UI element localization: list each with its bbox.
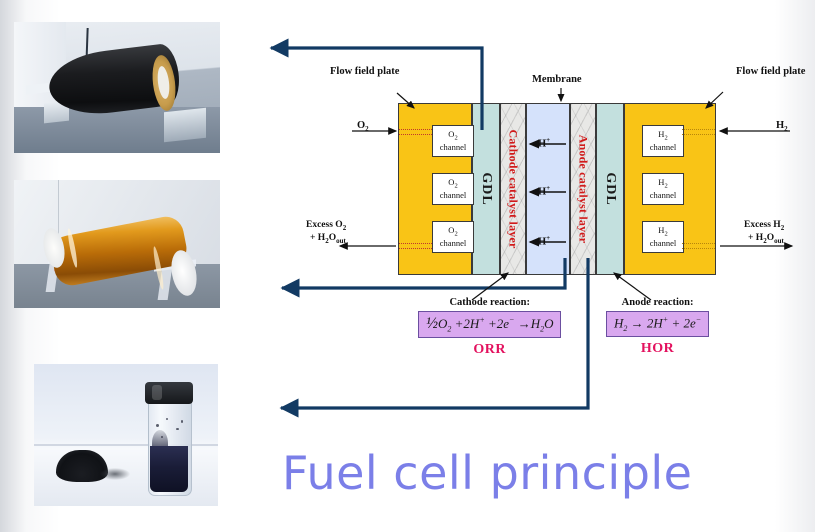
leader-anode-catalyst [614,273,651,300]
hydrogen-channel-2-text: channel [650,191,676,200]
photo-gas-diffusion-layer-roll [14,22,220,153]
cathode-catalyst-layer-label: Cathode catalyst layer [506,129,521,248]
slide-canvas: GDL Cathode catalyst layer Anode catalys… [0,0,815,532]
flow-field-plate-left-label: Flow field plate [330,66,399,77]
oxygen-outlet-dashes [399,243,432,244]
hydrogen-channel-1-text: channel [650,143,676,152]
gdl-right: GDL [596,103,624,275]
page-title: Fuel cell principle [282,446,692,500]
cathode-catalyst-layer: Cathode catalyst layer [500,103,526,275]
oxygen-inlet-dashes [399,129,432,130]
hydrogen-channel-2: H2 channel [642,173,684,205]
oxygen-channel-3-text: channel [440,239,466,248]
oxygen-channel-1-gas: O2 [448,130,457,143]
hydrogen-channel-3-text: channel [650,239,676,248]
gdl-right-label: GDL [602,172,618,205]
anode-reaction-block: Anode reaction: H2 → 2H+ + 2e− HOR [606,297,709,357]
excess-hydrogen-label-line1: Excess H2 [744,220,784,232]
hydrogen-channel-2-gas: H2 [658,178,667,191]
oxygen-channel-2-gas: O2 [448,178,457,191]
hydrogen-channel-3-gas: H2 [658,226,667,239]
anode-catalyst-layer-label: Anode catalyst layer [576,135,591,244]
oxygen-inlet-label: O2 [357,120,369,133]
hydrogen-inlet-label: H2 [776,120,788,133]
oxygen-channel-3: O2 channel [432,221,474,253]
hydrogen-outlet-dashes [682,243,715,244]
proton-label-1: H+ [538,136,550,150]
photo-membrane-roll [14,180,220,308]
hydrogen-channel-3: H2 channel [642,221,684,253]
anode-catalyst-layer: Anode catalyst layer [570,103,596,275]
oxygen-channel-2: O2 channel [432,173,474,205]
gdl-left-label: GDL [478,172,494,205]
cathode-reaction-name: ORR [418,342,561,358]
proton-label-2: H+ [538,184,550,198]
leader-cathode-catalyst [472,273,508,300]
cathode-reaction-block: Cathode reaction: ½O2 +2H+ +2e− →H2O ORR [418,297,561,358]
flow-field-plate-right-label: Flow field plate [736,66,805,77]
hydrogen-channel-1-gas: H2 [658,130,667,143]
hydrogen-inlet-dashes [682,129,715,130]
excess-hydrogen-label-line2: + H2Oout [748,233,784,245]
excess-oxygen-label-line2: + H2Oout [310,233,346,245]
membrane-label: Membrane [532,74,582,85]
anode-reaction-name: HOR [606,341,709,357]
proton-label-3: H+ [538,234,550,248]
oxygen-channel-1-text: channel [440,143,466,152]
oxygen-channel-1: O2 channel [432,125,474,157]
cathode-reaction-caption: Cathode reaction: [418,297,561,308]
oxygen-channel-2-text: channel [440,191,466,200]
gdl-left: GDL [472,103,500,275]
anode-reaction-equation: H2 → 2H+ + 2e− [606,311,709,337]
hydrogen-outlet-dashes-2 [682,248,715,249]
fuel-cell-diagram: GDL Cathode catalyst layer Anode catalys… [398,103,716,275]
hydrogen-channel-1: H2 channel [642,125,684,157]
excess-oxygen-label-line1: Excess O2 [306,220,346,232]
oxygen-inlet-dashes-2 [399,134,432,135]
oxygen-outlet-dashes-2 [399,248,432,249]
oxygen-channel-3-gas: O2 [448,226,457,239]
photo-catalyst-powder-and-ink [34,364,218,506]
hydrogen-inlet-dashes-2 [682,134,715,135]
anode-reaction-caption: Anode reaction: [606,297,709,308]
cathode-reaction-equation: ½O2 +2H+ +2e− →H2O [418,311,561,338]
